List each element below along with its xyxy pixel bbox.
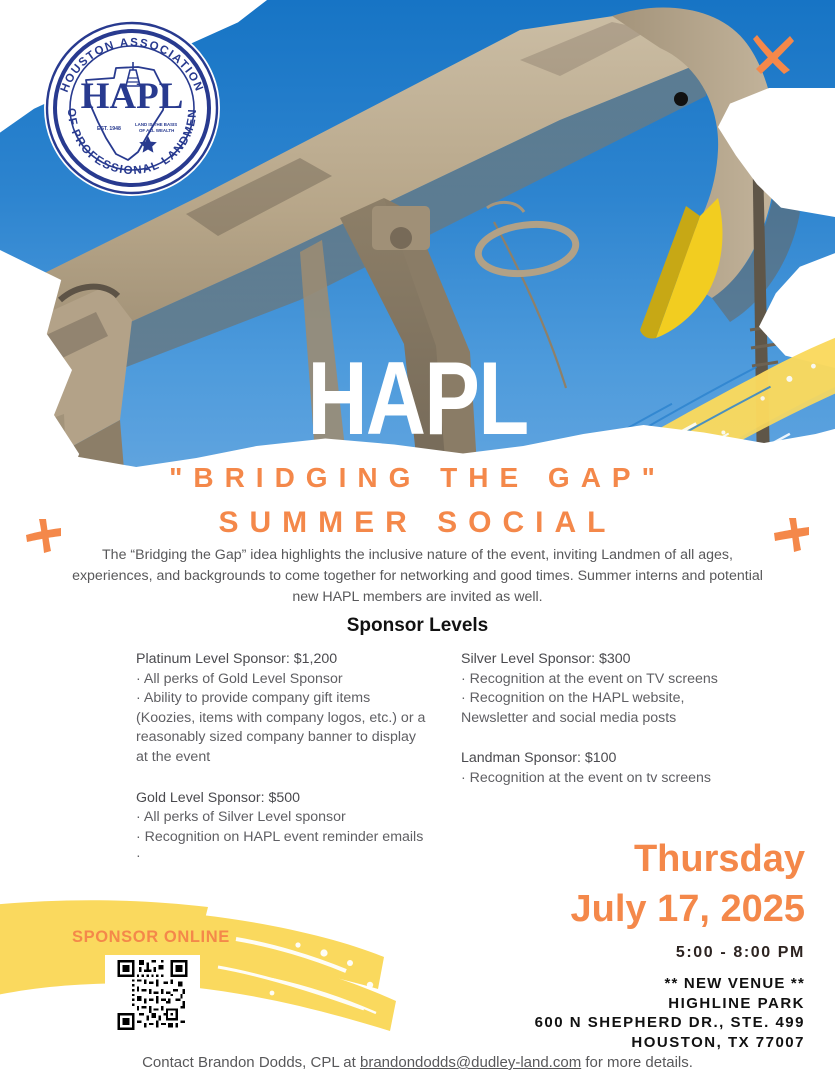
yellow-brushstroke-bottom	[0, 893, 402, 1053]
sponsor-column-left: Platinum Level Sponsor: $1,200 · All per…	[136, 650, 426, 867]
sponsor-tier-perk: ·	[136, 847, 426, 867]
event-date: July 17, 2025	[570, 888, 805, 931]
logo-motto-line1: LAND IS THE BASIS	[135, 122, 177, 127]
orange-x-icon	[749, 28, 797, 76]
sponsor-tier-title: Landman Sponsor: $100	[461, 749, 751, 769]
sponsor-tier-title: Platinum Level Sponsor: $1,200	[136, 650, 426, 670]
sponsor-tier-perk: · Recognition at the event on tv screens	[461, 769, 751, 789]
sponsor-tier-perk: · All perks of Gold Level Sponsor	[136, 670, 426, 690]
sponsor-tier-perk: · Ability to provide company gift items …	[136, 689, 426, 767]
sponsor-tier-perk: · Recognition at the event on TV screens	[461, 670, 751, 690]
sponsor-tier-platinum: Platinum Level Sponsor: $1,200 · All per…	[136, 650, 426, 768]
hero-subtitle-1: "BRIDGING THE GAP"	[0, 462, 835, 494]
event-day: Thursday	[634, 838, 805, 881]
venue-street: 600 N SHEPHERD DR., STE. 499	[385, 1013, 805, 1033]
intro-paragraph: The “Bridging the Gap” idea highlights t…	[60, 545, 775, 608]
logo-center-text: HAPL	[81, 76, 184, 117]
venue-city: HOUSTON, TX 77007	[385, 1033, 805, 1053]
sponsor-tier-landman: Landman Sponsor: $100 · Recognition at t…	[461, 749, 751, 788]
hapl-logo: HAPL HOUSTON ASSOCIATION OF PROFESSIONAL…	[42, 18, 222, 198]
contact-suffix: for more details.	[581, 1054, 693, 1071]
venue-note: ** NEW VENUE **	[385, 974, 805, 994]
venue-name: HIGHLINE PARK	[385, 994, 805, 1014]
event-flyer: HAPL HOUSTON ASSOCIATION OF PROFESSIONAL…	[0, 0, 835, 1080]
sponsor-tier-perk: · Recognition on HAPL event reminder ema…	[136, 828, 426, 848]
sponsor-tier-perk: · All perks of Silver Level sponsor	[136, 808, 426, 828]
sponsor-tier-gold: Gold Level Sponsor: $500 · All perks of …	[136, 789, 426, 867]
sponsor-tier-perk: · Recognition on the HAPL website, Newsl…	[461, 689, 751, 728]
logo-est-text: EST. 1948	[97, 126, 121, 132]
event-venue: ** NEW VENUE ** HIGHLINE PARK 600 N SHEP…	[385, 974, 805, 1052]
sponsor-online-label: SPONSOR ONLINE	[72, 928, 230, 947]
event-time: 5:00 - 8:00 PM	[676, 944, 805, 962]
sponsor-levels-heading: Sponsor Levels	[0, 615, 835, 637]
qr-code[interactable]	[105, 955, 200, 1035]
hero-title: HAPL	[84, 352, 752, 448]
sponsor-column-right: Silver Level Sponsor: $300 · Recognition…	[461, 650, 751, 789]
contact-prefix: Contact Brandon Dodds, CPL at	[142, 1054, 360, 1071]
logo-motto-line2: OF ALL WEALTH	[139, 128, 174, 133]
sponsor-tier-title: Silver Level Sponsor: $300	[461, 650, 751, 670]
sponsor-tier-silver: Silver Level Sponsor: $300 · Recognition…	[461, 650, 751, 728]
contact-email-link[interactable]: brandondodds@dudley-land.com	[360, 1054, 581, 1071]
sponsor-tier-title: Gold Level Sponsor: $500	[136, 789, 426, 809]
hero-subtitle-2: SUMMER SOCIAL	[0, 506, 835, 540]
contact-footer: Contact Brandon Dodds, CPL at brandondod…	[0, 1054, 835, 1071]
